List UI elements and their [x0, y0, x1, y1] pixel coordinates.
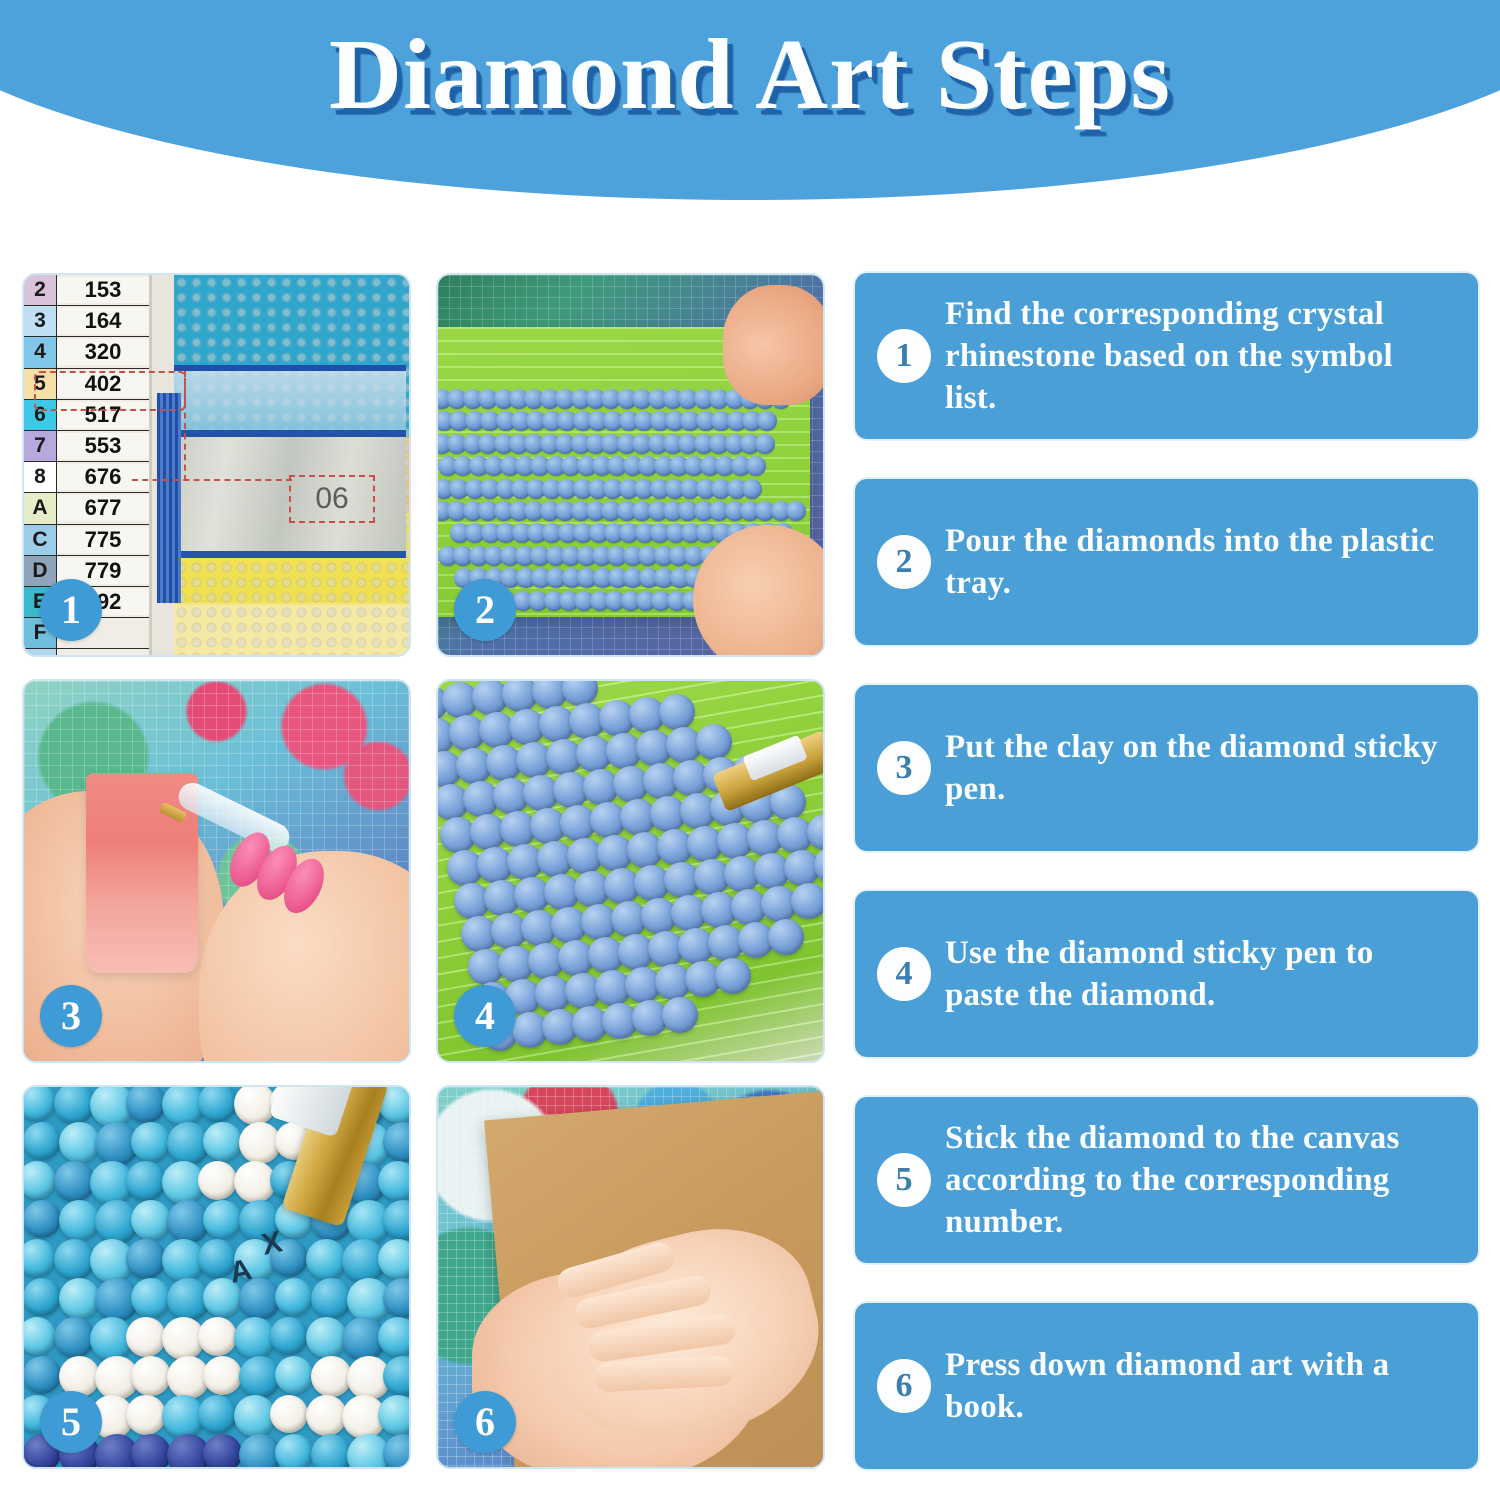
photo-tile-1: 2153316443205402651775538676A677C775D779… [22, 273, 411, 657]
placed-diamond [131, 1200, 171, 1240]
photo-2-finger-top [723, 285, 823, 405]
placed-diamond [198, 1395, 237, 1434]
photo-tile-2: 2 [436, 273, 825, 657]
symbol-chart-row: 7553 [24, 431, 149, 462]
symbol-chart-symbol: G [24, 649, 57, 655]
diamond-bead [768, 919, 804, 955]
bag-number-label: 06 [289, 475, 375, 523]
symbol-chart-number: 676 [57, 464, 149, 490]
diamond-bead [742, 479, 762, 499]
symbol-chart-row: 8676 [24, 462, 149, 493]
placed-diamond [126, 1317, 166, 1357]
placed-diamond [59, 1122, 100, 1163]
photo-1-bag-edge [157, 393, 181, 603]
step-instructions-list: 1 Find the corresponding crystal rhinest… [855, 273, 1478, 1469]
placed-diamond [306, 1395, 347, 1436]
symbol-chart-symbol: 8 [24, 462, 57, 492]
step-panel-5[interactable]: 5 Stick the diamond to the canvas accord… [855, 1097, 1478, 1263]
symbol-chart-symbol: D [24, 556, 57, 586]
step-text-1: Find the corresponding crystal rhineston… [945, 293, 1452, 420]
photo-grid: 2153316443205402651775538676A677C775D779… [22, 273, 825, 1469]
symbol-chart-number: 164 [57, 308, 149, 334]
symbol-chart-row: G [24, 649, 149, 655]
placed-diamond [126, 1395, 166, 1435]
symbol-chart-symbol: 4 [24, 337, 57, 367]
symbol-chart-number: 677 [57, 495, 149, 521]
placed-diamond [126, 1239, 166, 1279]
symbol-chart-symbol: 7 [24, 431, 57, 461]
placed-diamond [306, 1317, 347, 1358]
step-text-6: Press down diamond art with a book. [945, 1344, 1452, 1428]
placed-diamond [54, 1239, 95, 1280]
placed-diamond [311, 1278, 352, 1319]
placed-diamond [203, 1122, 242, 1161]
symbol-chart-number: 553 [57, 433, 149, 459]
placed-diamond [131, 1356, 171, 1396]
placed-diamond [24, 1122, 61, 1160]
photo-badge-6: 6 [454, 1391, 516, 1453]
placed-diamond [24, 1356, 61, 1394]
symbol-chart-symbol: A [24, 493, 57, 523]
placed-diamond [203, 1434, 242, 1467]
placed-diamond [198, 1161, 237, 1200]
placed-diamond [275, 1434, 313, 1467]
page-title: Diamond Art Steps [0, 16, 1500, 132]
photo-tile-4: 4 [436, 679, 825, 1063]
step-panel-3[interactable]: 3 Put the clay on the diamond sticky pen… [855, 685, 1478, 851]
step-panel-1[interactable]: 1 Find the corresponding crystal rhinest… [855, 273, 1478, 439]
diamond-bead [662, 997, 698, 1033]
photo-badge-5: 5 [40, 1391, 102, 1453]
step-text-3: Put the clay on the diamond sticky pen. [945, 726, 1452, 810]
placed-diamond [54, 1161, 95, 1202]
step-number-1: 1 [877, 329, 931, 383]
step-panel-4[interactable]: 4 Use the diamond sticky pen to paste th… [855, 891, 1478, 1057]
step-text-2: Pour the diamonds into the plastic tray. [945, 520, 1452, 604]
placed-diamond [306, 1239, 347, 1280]
diamond-bead [791, 883, 823, 919]
photo-tile-6: 6 [436, 1085, 825, 1469]
step-text-4: Use the diamond sticky pen to paste the … [945, 932, 1452, 1016]
symbol-chart-number: 320 [57, 339, 149, 365]
step-number-5: 5 [877, 1153, 931, 1207]
placed-diamond [275, 1356, 313, 1394]
placed-diamond [131, 1278, 171, 1318]
highlight-box-symbol-row [34, 371, 186, 411]
photo-1-bag-top [174, 365, 406, 435]
photo-tile-3: 3 [22, 679, 411, 1063]
placed-diamond [59, 1278, 100, 1319]
step-panel-2[interactable]: 2 Pour the diamonds into the plastic tra… [855, 479, 1478, 645]
symbol-chart-symbol: C [24, 525, 57, 555]
diamond-bead [696, 724, 732, 760]
diamond-bead [715, 958, 751, 994]
placed-diamond [131, 1122, 171, 1162]
symbol-chart-row: C775 [24, 525, 149, 556]
placed-diamond [203, 1356, 242, 1395]
placed-diamond [59, 1200, 100, 1241]
step-panel-6[interactable]: 6 Press down diamond art with a book. [855, 1303, 1478, 1469]
highlight-connector-horizontal [132, 479, 292, 481]
step-text-5: Stick the diamond to the canvas accordin… [945, 1117, 1452, 1244]
placed-diamond [198, 1317, 237, 1356]
photo-badge-2: 2 [454, 579, 516, 641]
step-number-6: 6 [877, 1359, 931, 1413]
photo-badge-3: 3 [40, 985, 102, 1047]
symbol-chart-row: 2153 [24, 275, 149, 306]
photo-badge-1: 1 [40, 579, 102, 641]
symbol-chart-row: 4320 [24, 337, 149, 368]
placed-diamond [24, 1200, 61, 1238]
step-number-3: 3 [877, 741, 931, 795]
symbol-chart-symbol: 3 [24, 306, 57, 336]
page-content: 2153316443205402651775538676A677C775D779… [0, 230, 1500, 1500]
photo-tile-5: X A 5 [22, 1085, 411, 1469]
placed-diamond [270, 1317, 308, 1355]
placed-diamond [270, 1395, 308, 1433]
diamond-bead [659, 694, 695, 730]
placed-diamond [131, 1434, 171, 1467]
symbol-chart-number: 153 [57, 277, 149, 303]
placed-diamond [311, 1356, 352, 1397]
symbol-chart-number: 775 [57, 527, 149, 553]
symbol-chart-row: 3164 [24, 306, 149, 337]
symbol-chart-symbol: 2 [24, 275, 57, 305]
photo-badge-4: 4 [454, 985, 516, 1047]
step-number-4: 4 [877, 947, 931, 1001]
page-header: Diamond Art Steps [0, 0, 1500, 230]
placed-diamond [126, 1161, 166, 1201]
step-number-2: 2 [877, 535, 931, 589]
placed-diamond [311, 1434, 352, 1467]
symbol-chart-row: A677 [24, 493, 149, 524]
placed-diamond [275, 1278, 313, 1316]
placed-diamond [54, 1317, 95, 1358]
placed-diamond [24, 1278, 61, 1316]
placed-diamond [203, 1200, 242, 1239]
